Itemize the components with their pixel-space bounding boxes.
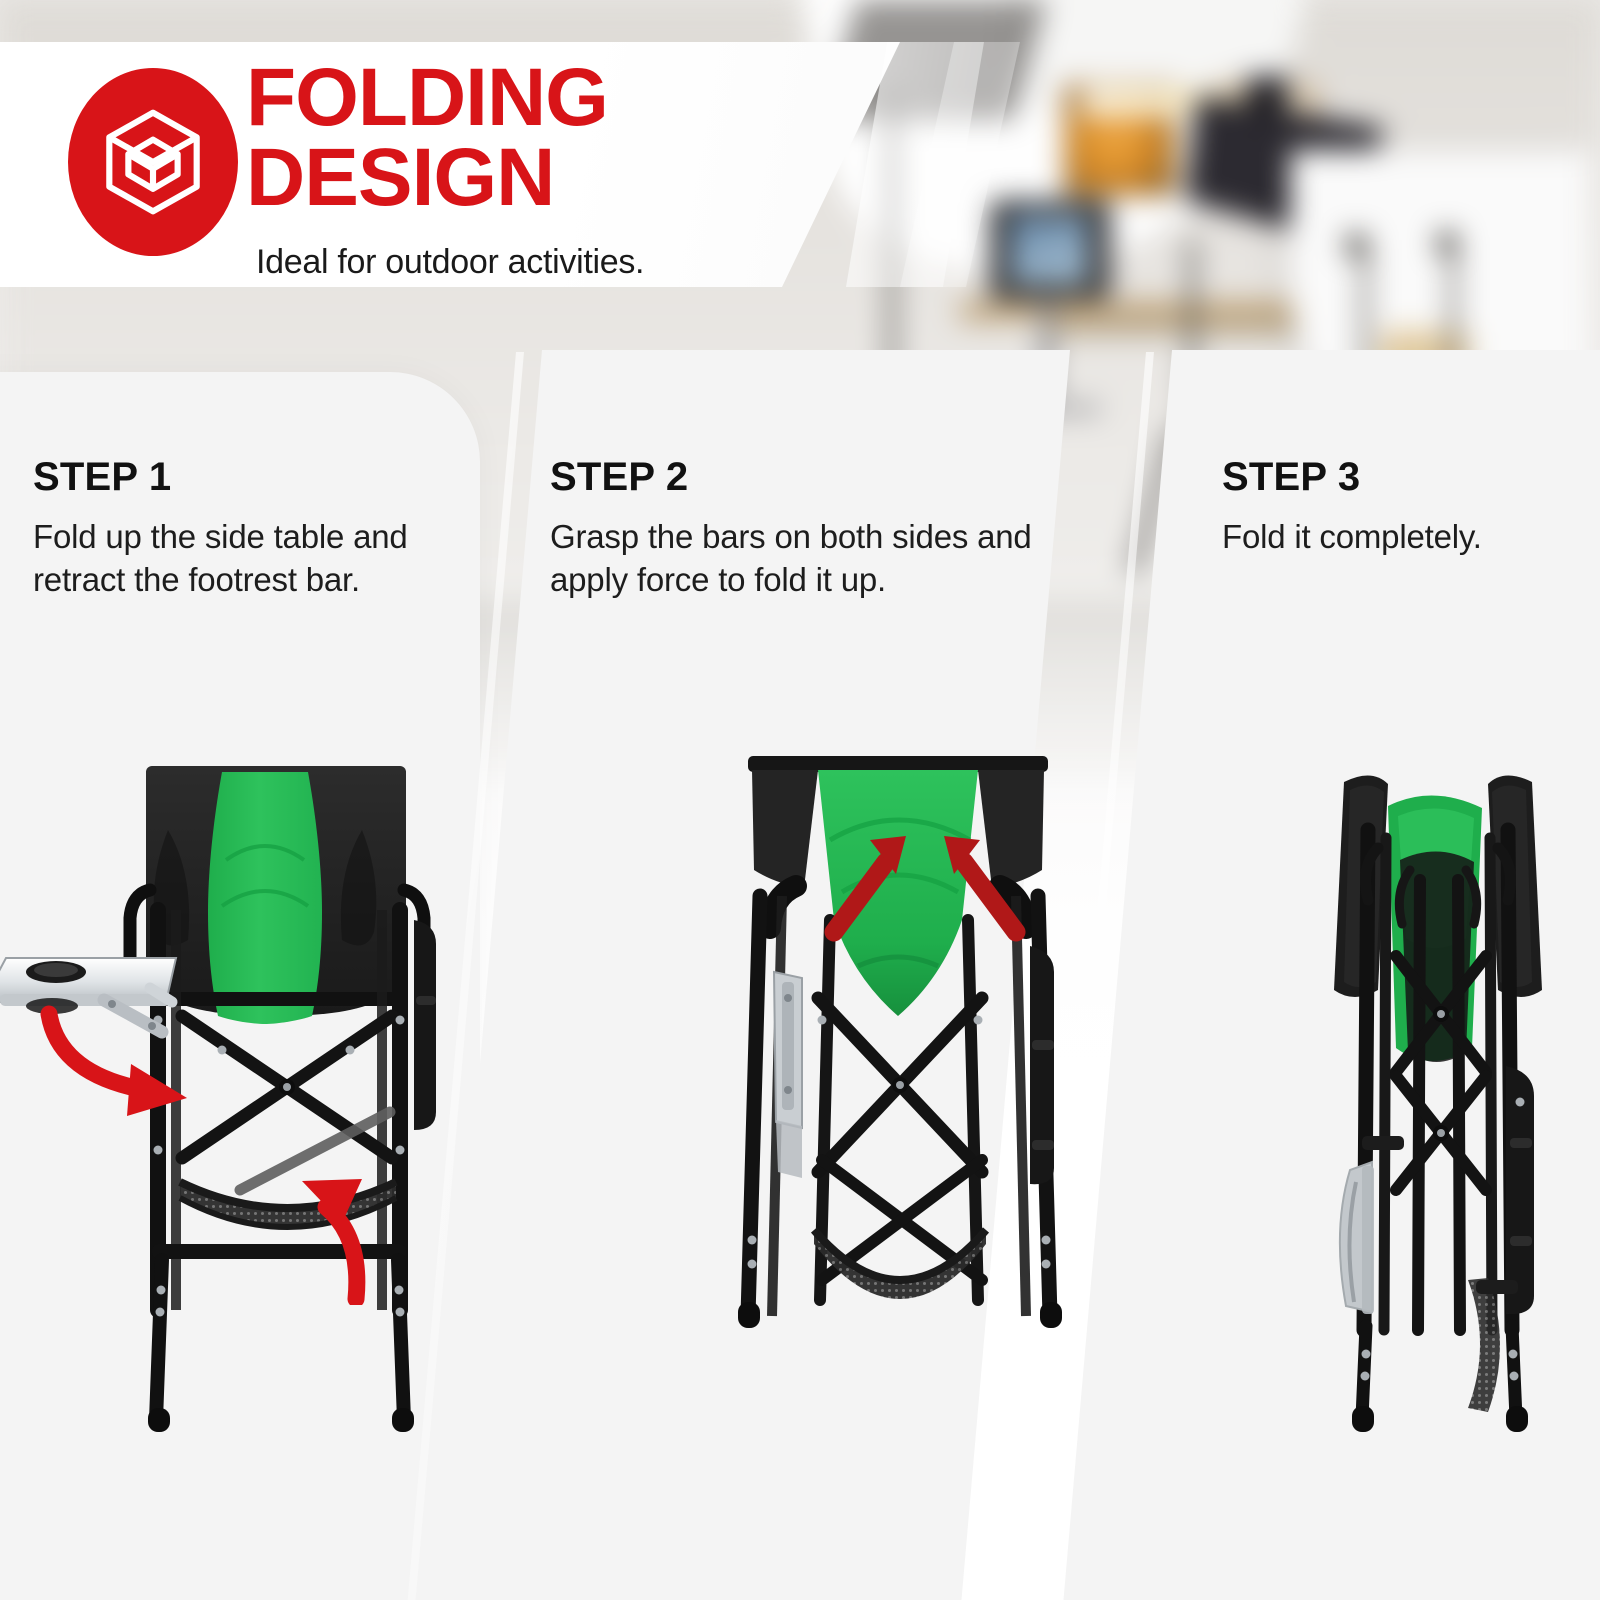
step-3-text: STEP 3 Fold it completely.	[1222, 455, 1600, 559]
monitor-screen	[1010, 214, 1088, 284]
step-1-description: Fold up the side table and retract the f…	[33, 516, 503, 602]
step-1-text: STEP 1 Fold up the side table and retrac…	[33, 455, 503, 602]
step-2-title: STEP 2	[550, 455, 1090, 500]
page-title: FOLDING DESIGN	[246, 58, 608, 217]
hex-cube-icon	[97, 106, 209, 218]
chair-image-step-3	[1280, 720, 1600, 1480]
folded-side-table	[774, 972, 802, 1178]
grasp-bar-arrow-left	[834, 836, 906, 932]
grasp-bars-arrows	[800, 800, 1050, 950]
folded-side-table	[1340, 1162, 1374, 1314]
softbox-head	[1245, 76, 1289, 122]
title-line-2: DESIGN	[246, 138, 608, 218]
light-head	[1345, 232, 1367, 258]
side-table-fold-arrow	[35, 990, 225, 1130]
title-line-1: FOLDING	[246, 58, 608, 138]
footrest-retract-arrow	[280, 1145, 430, 1305]
step-3-title: STEP 3	[1222, 455, 1600, 500]
step-2-text: STEP 2 Grasp the bars on both sides and …	[550, 455, 1090, 602]
page-subtitle: Ideal for outdoor activities.	[256, 243, 644, 282]
step-1-title: STEP 1	[33, 455, 503, 500]
brand-logo-badge	[68, 68, 238, 256]
step-2-description: Grasp the bars on both sides and apply f…	[550, 516, 1090, 602]
grasp-bar-arrow-right	[944, 836, 1016, 932]
light-head	[1436, 230, 1458, 256]
step-3-description: Fold it completely.	[1222, 516, 1600, 559]
infographic-canvas: FOLDING DESIGN Ideal for outdoor activit…	[0, 0, 1600, 1600]
